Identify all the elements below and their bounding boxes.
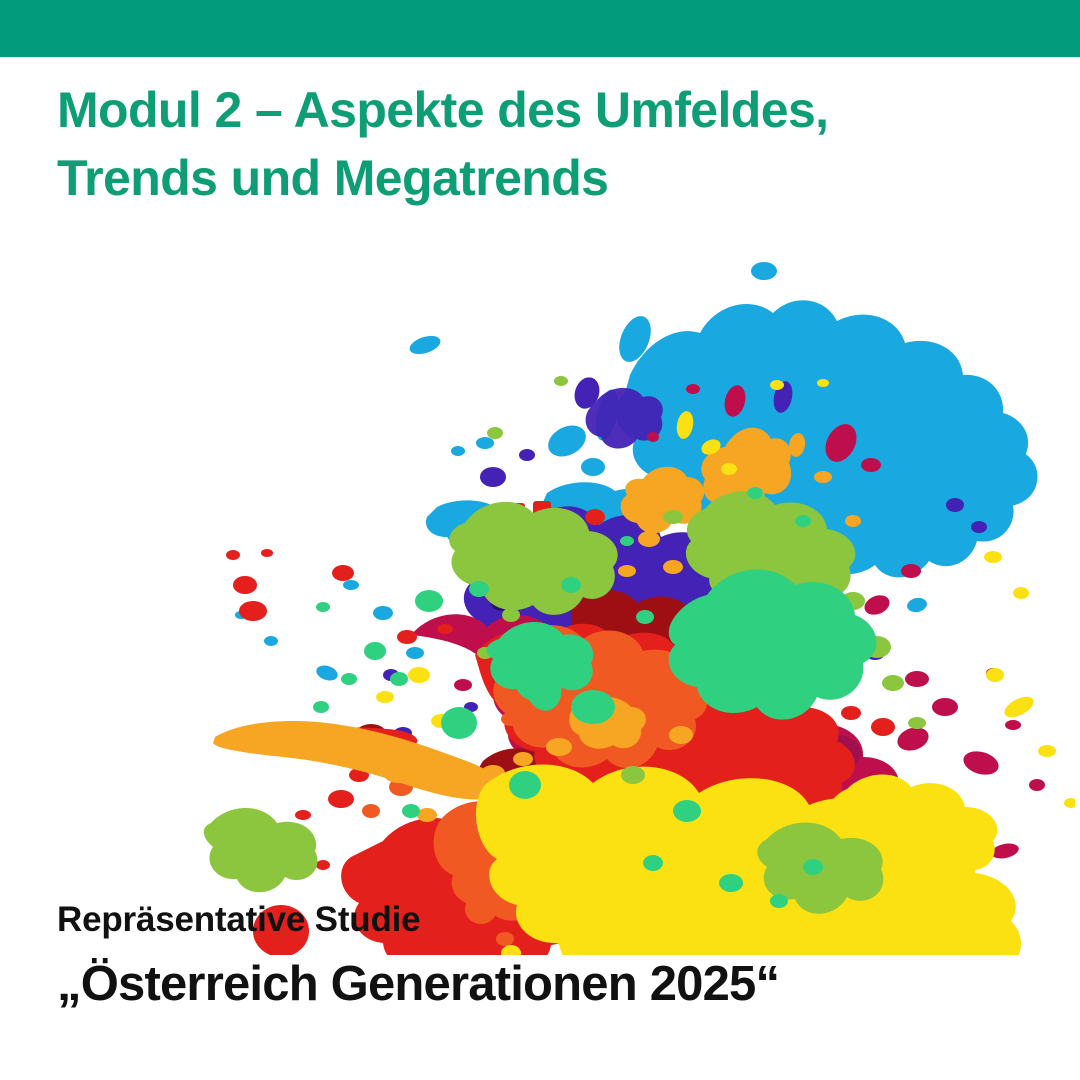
page-title: Modul 2 – Aspekte des Umfeldes, Trends u… — [57, 76, 1037, 212]
study-title: „Österreich Generationen 2025“ — [57, 954, 1017, 1014]
footer-text-block: Repräsentative Studie „Österreich Genera… — [57, 898, 1017, 1014]
paint-splatter-illustration — [175, 255, 1075, 955]
title-line-2: Trends und Megatrends — [57, 144, 1037, 212]
header-accent-bar — [0, 0, 1080, 57]
slide-canvas: Modul 2 – Aspekte des Umfeldes, Trends u… — [0, 0, 1080, 1080]
study-kicker: Repräsentative Studie — [57, 898, 1017, 942]
title-line-1: Modul 2 – Aspekte des Umfeldes, — [57, 76, 1037, 144]
